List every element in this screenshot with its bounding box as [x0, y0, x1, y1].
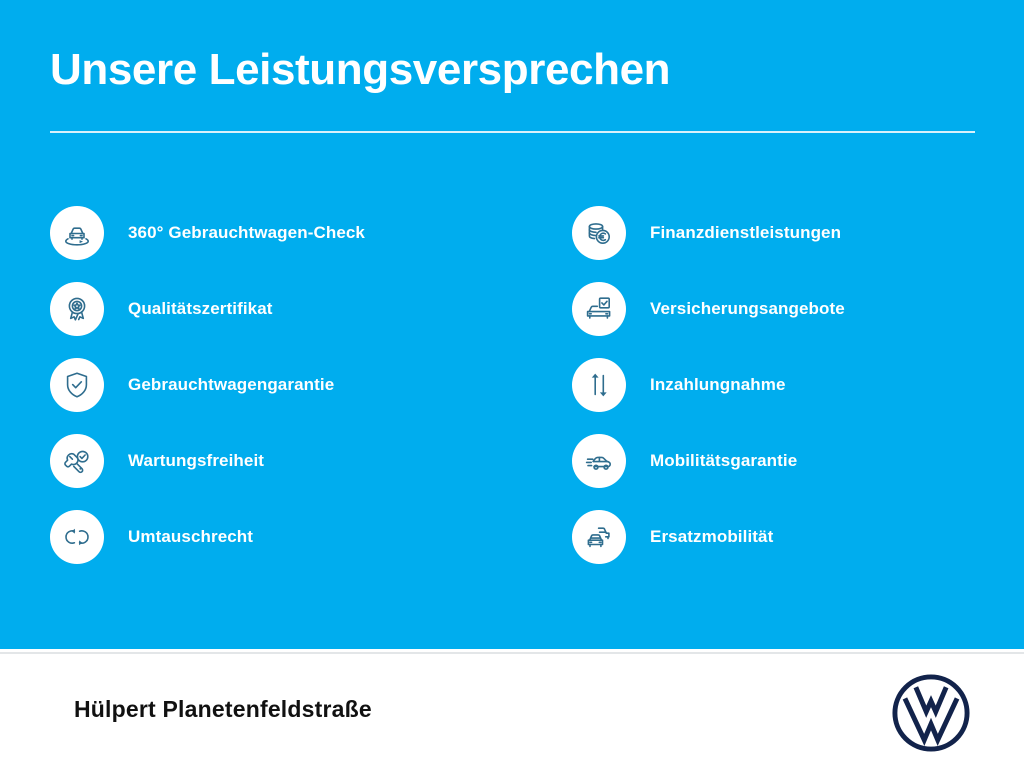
feature-label: Finanzdienstleistungen: [650, 223, 841, 243]
car-checkbox-icon: [572, 282, 626, 336]
footer-bar: Hülpert Planetenfeldstraße: [0, 654, 1024, 768]
slide-root: Unsere Leistungsversprechen: [0, 0, 1024, 768]
feature-item-ersatzmobilitaet[interactable]: Ersatzmobilität: [572, 499, 1024, 575]
feature-label: Mobilitätsgarantie: [650, 451, 797, 471]
page-title: Unsere Leistungsversprechen: [50, 46, 670, 94]
feature-item-inzahlungnahme[interactable]: Inzahlungnahme: [572, 347, 1024, 423]
dealer-name: Hülpert Planetenfeldstraße: [74, 696, 372, 723]
features-right-column: Finanzdienstleistungen Versicheru: [0, 195, 1024, 575]
title-divider: [50, 131, 975, 133]
feature-label: Versicherungsangebote: [650, 299, 845, 319]
moving-car-icon: [572, 434, 626, 488]
feature-item-finanzdienstleistungen[interactable]: Finanzdienstleistungen: [572, 195, 1024, 271]
features-grid: 360° Gebrauchtwagen-Check Qualitätszerti…: [0, 195, 1024, 575]
coins-euro-icon: [572, 206, 626, 260]
two-cars-icon: [572, 510, 626, 564]
feature-label: Ersatzmobilität: [650, 527, 773, 547]
hero-panel: Unsere Leistungsversprechen: [0, 0, 1024, 649]
feature-item-mobilitaetsgarantie[interactable]: Mobilitätsgarantie: [572, 423, 1024, 499]
volkswagen-logo: [890, 672, 972, 754]
feature-label: Inzahlungnahme: [650, 375, 786, 395]
feature-item-versicherungsangebote[interactable]: Versicherungsangebote: [572, 271, 1024, 347]
up-down-arrows-icon: [572, 358, 626, 412]
